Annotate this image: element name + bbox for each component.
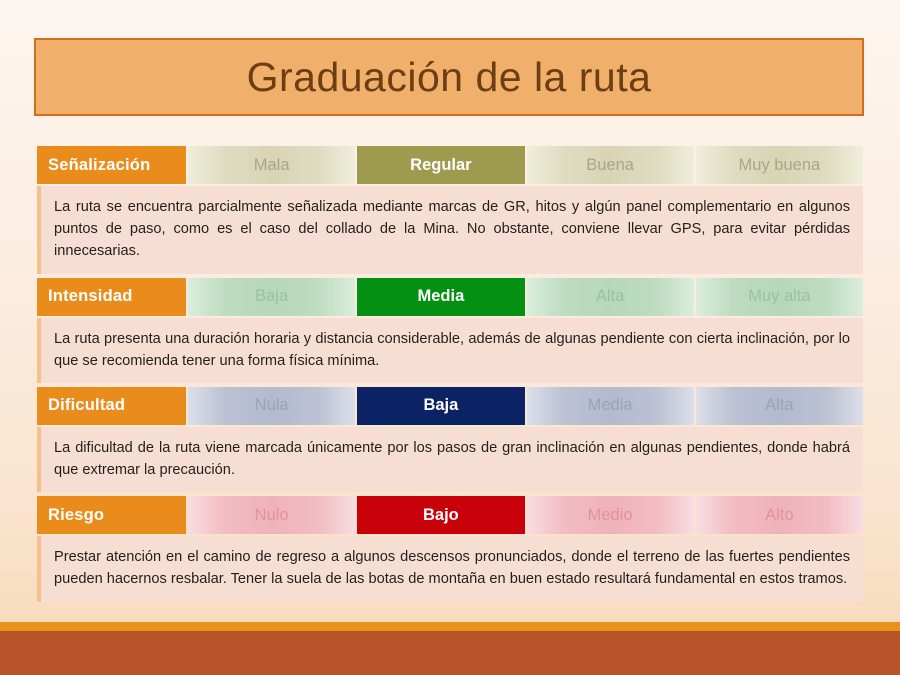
criterion-description-intensidad: La ruta presenta una duración horaria y … [37,318,863,383]
scale-option-senalizacion-mala[interactable]: Mala [188,146,355,184]
criterion-label-riesgo: Riesgo [37,496,186,534]
page-title: Graduación de la ruta [247,54,652,101]
scale-option-senalizacion-muy-buena[interactable]: Muy buena [696,146,863,184]
scale-option-senalizacion-regular[interactable]: Regular [357,146,524,184]
slide-canvas: Graduación de la ruta SeñalizaciónMalaRe… [0,0,900,675]
criterion-description-text-dificultad: La dificultad de la ruta viene marcada ú… [54,437,850,481]
criterion-scale-senalizacion: MalaRegularBuenaMuy buena [186,146,863,184]
scale-option-riesgo-nulo[interactable]: Nulo [188,496,355,534]
criterion-description-senalizacion: La ruta se encuentra parcialmente señali… [37,186,863,274]
route-grading-table: SeñalizaciónMalaRegularBuenaMuy buenaLa … [37,146,863,602]
scale-option-intensidad-alta[interactable]: Alta [527,278,694,316]
criterion-description-text-senalizacion: La ruta se encuentra parcialmente señali… [54,196,850,263]
criterion-row-intensidad: IntensidadBajaMediaAltaMuy alta [37,278,863,316]
scale-option-senalizacion-buena[interactable]: Buena [527,146,694,184]
scale-option-dificultad-baja[interactable]: Baja [357,387,524,425]
slide-title-box: Graduación de la ruta [34,38,864,116]
footer-orange-band [0,622,900,631]
scale-option-dificultad-media[interactable]: Media [527,387,694,425]
criterion-label-dificultad: Dificultad [37,387,186,425]
scale-option-riesgo-medio[interactable]: Medio [527,496,694,534]
scale-option-intensidad-muy-alta[interactable]: Muy alta [696,278,863,316]
scale-option-riesgo-bajo[interactable]: Bajo [357,496,524,534]
criterion-description-text-intensidad: La ruta presenta una duración horaria y … [54,328,850,372]
criterion-scale-riesgo: NuloBajoMedioAlto [186,496,863,534]
criterion-scale-dificultad: NulaBajaMediaAlta [186,387,863,425]
criterion-description-dificultad: La dificultad de la ruta viene marcada ú… [37,427,863,492]
scale-option-intensidad-media[interactable]: Media [357,278,524,316]
scale-option-dificultad-nula[interactable]: Nula [188,387,355,425]
criterion-label-intensidad: Intensidad [37,278,186,316]
criterion-row-riesgo: RiesgoNuloBajoMedioAlto [37,496,863,534]
criterion-row-senalizacion: SeñalizaciónMalaRegularBuenaMuy buena [37,146,863,184]
criterion-scale-intensidad: BajaMediaAltaMuy alta [186,278,863,316]
criterion-label-senalizacion: Señalización [37,146,186,184]
scale-option-intensidad-baja[interactable]: Baja [188,278,355,316]
criterion-description-text-riesgo: Prestar atención en el camino de regreso… [54,546,850,590]
criterion-row-dificultad: DificultadNulaBajaMediaAlta [37,387,863,425]
footer-brick-band [0,631,900,675]
criterion-description-riesgo: Prestar atención en el camino de regreso… [37,536,863,601]
scale-option-dificultad-alta[interactable]: Alta [696,387,863,425]
scale-option-riesgo-alto[interactable]: Alto [696,496,863,534]
